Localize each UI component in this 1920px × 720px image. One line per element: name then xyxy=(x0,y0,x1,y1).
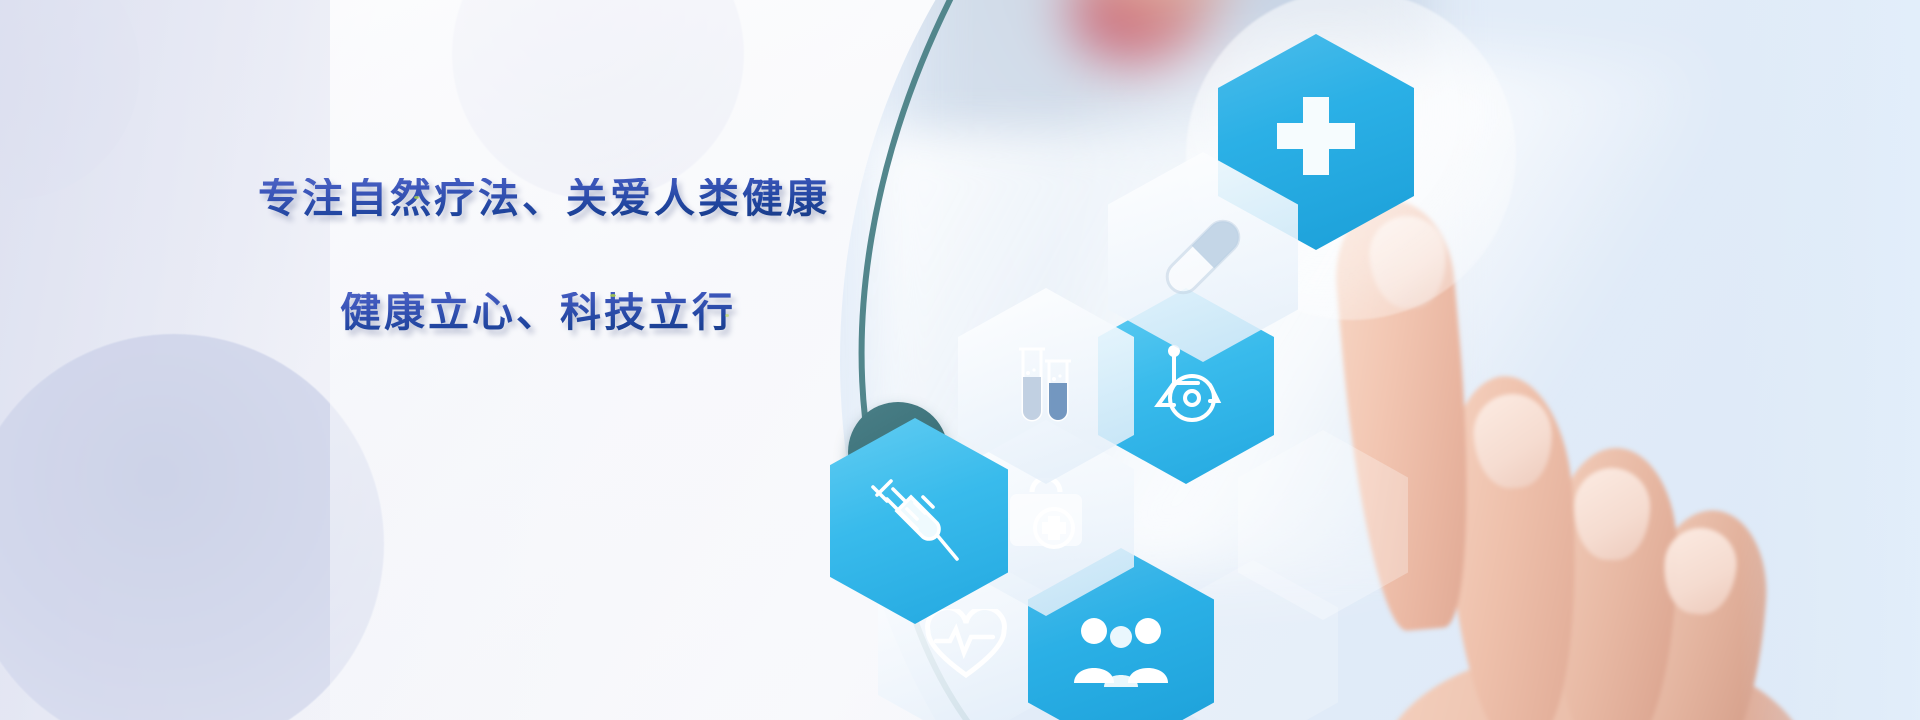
pill-capsule-icon xyxy=(1151,205,1255,309)
hero-image-panel xyxy=(830,0,1920,720)
test-tubes-icon xyxy=(1009,343,1083,429)
sparkle-dot xyxy=(610,294,616,297)
sparkle-dot xyxy=(414,196,419,199)
sparkle-dot xyxy=(725,314,729,317)
syringe-icon xyxy=(867,473,963,569)
family-group-icon xyxy=(1072,615,1170,687)
medical-cross-icon xyxy=(1263,89,1369,195)
first-aid-kit-icon xyxy=(1002,478,1090,558)
hero-banner: 专注自然疗法、关爱人类健康 健康立心、科技立行 xyxy=(0,0,1920,720)
wheelchair-icon xyxy=(1144,345,1228,427)
heartbeat-icon xyxy=(922,609,1010,683)
